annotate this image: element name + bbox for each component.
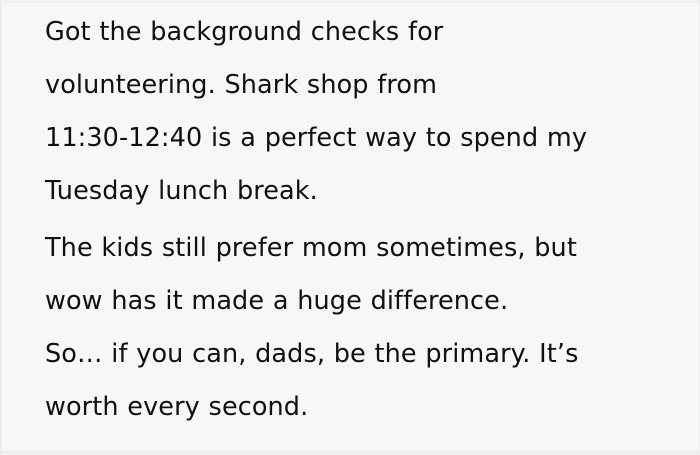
paragraph-2: The kids still prefer mom sometimes, but… [45, 222, 685, 434]
body-copy: Got the background checks for volunteeri… [45, 6, 685, 434]
paragraph-1: Got the background checks for volunteeri… [45, 6, 685, 218]
text-excerpt-card: Got the background checks for volunteeri… [0, 0, 700, 455]
